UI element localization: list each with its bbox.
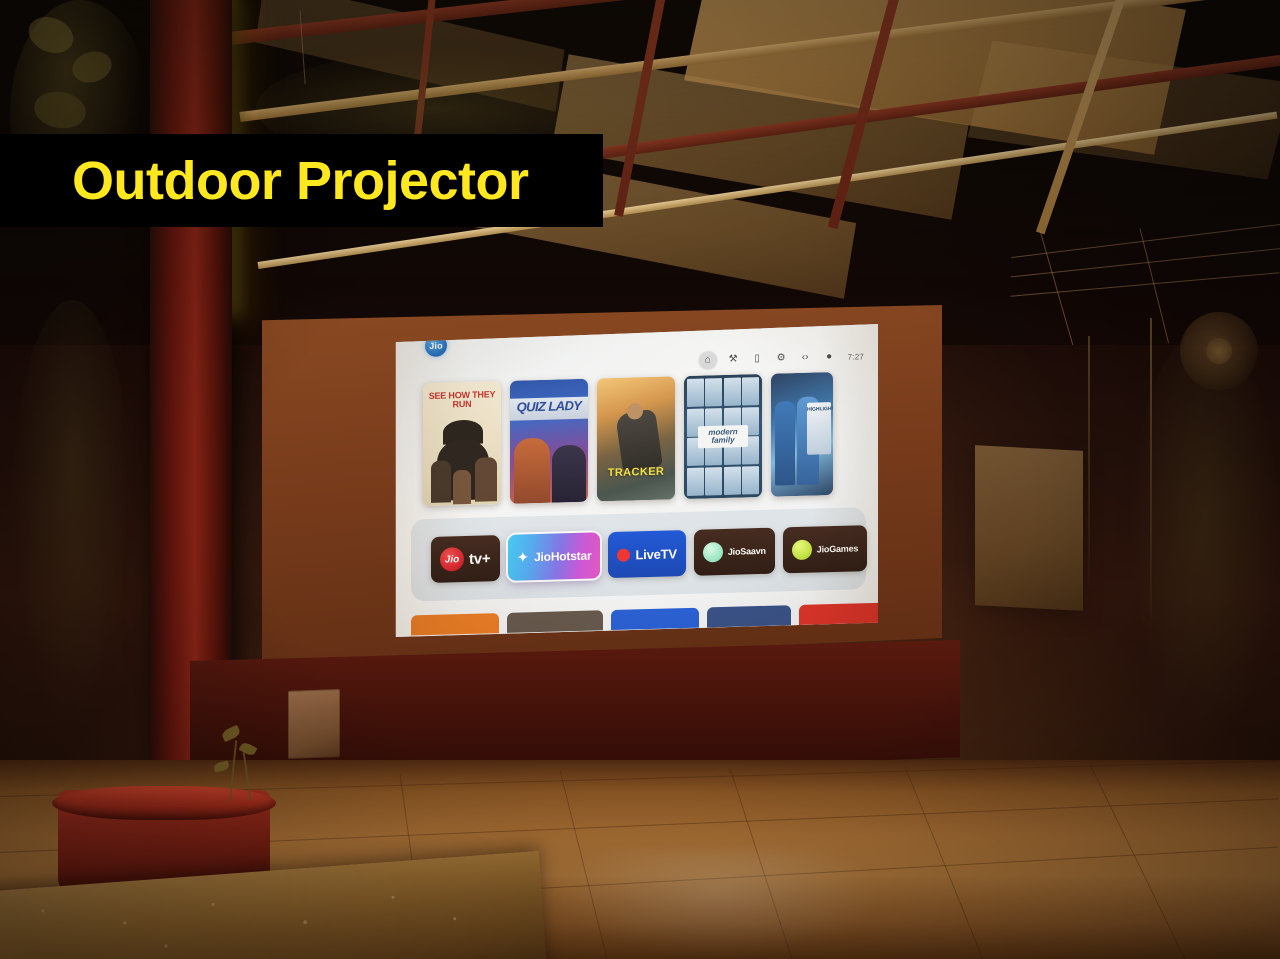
foliage-cluster	[1130, 330, 1280, 750]
counter-speck	[303, 920, 307, 924]
grid-cell	[724, 466, 741, 495]
app-label: JioHotstar	[534, 549, 591, 565]
app-label: LiveTV	[635, 546, 676, 562]
content-card[interactable]: QUIZ LADY	[510, 379, 588, 504]
remote-icon[interactable]: ▯	[750, 351, 765, 366]
app-shelf: Jio tv+ ✦ JioHotstar LiveTV JioSaavn	[411, 507, 866, 601]
jiosaavn-icon	[703, 542, 723, 563]
counter-speck	[391, 896, 394, 899]
projection-inner: Jio ⌂ ⚒ ▯ ⚙ ‹› ● 7:27 SEE HOW THEY	[391, 324, 878, 637]
content-card[interactable]: modern family	[684, 374, 762, 499]
projected-jio-tv-screen[interactable]: Jio ⌂ ⚒ ▯ ⚙ ‹› ● 7:27 SEE HOW THEY	[391, 324, 878, 637]
row-tile[interactable]	[411, 613, 499, 635]
hotstar-star-icon: ✦	[517, 550, 530, 565]
card-silhouette	[453, 470, 471, 504]
grid-cell	[742, 466, 759, 495]
home-icon[interactable]: ⌂	[699, 351, 717, 369]
app-label: JioGames	[817, 543, 858, 554]
counter-speck	[453, 917, 456, 920]
grid-cell	[687, 379, 704, 408]
grid-cell	[724, 378, 741, 407]
code-brackets-icon[interactable]: ‹›	[798, 350, 813, 365]
card-silhouette	[475, 457, 497, 502]
card-title: modern family	[698, 424, 748, 447]
page-title: Outdoor Projector	[0, 154, 529, 208]
photo-scene: Jio ⌂ ⚒ ▯ ⚙ ‹› ● 7:27 SEE HOW THEY	[0, 0, 1280, 959]
profile-icon[interactable]: ●	[822, 349, 837, 364]
tile-grout-line	[1090, 764, 1194, 959]
app-tile-livetv[interactable]: LiveTV	[608, 530, 685, 578]
content-card[interactable]: SEE HOW THEY RUN	[423, 381, 501, 506]
title-banner: Outdoor Projector	[0, 134, 603, 227]
card-title: SEE HOW THEY RUN	[423, 390, 501, 410]
counter-speck	[123, 921, 127, 924]
card-title: QUIZ LADY	[510, 399, 588, 414]
card-scoreboard: HIGHLIGHTS	[807, 402, 831, 455]
grid-cell	[705, 467, 722, 496]
counter-speck	[211, 903, 214, 906]
card-figure	[514, 438, 550, 504]
screen-floor-reflection	[560, 850, 880, 955]
settings-gear-icon[interactable]: ⚙	[774, 351, 789, 366]
row-tile[interactable]	[611, 608, 699, 630]
planter-pot-rim	[52, 786, 276, 820]
grid-cell	[742, 377, 759, 406]
wall-panel	[975, 445, 1083, 611]
app-row: Jio tv+ ✦ JioHotstar LiveTV JioSaavn	[431, 525, 867, 583]
row-tile[interactable]	[799, 602, 878, 624]
jiogames-icon	[792, 540, 812, 561]
card-figure	[552, 445, 586, 503]
jio-badge-icon: Jio	[440, 547, 464, 572]
app-label: tv+	[469, 550, 491, 568]
tools-icon[interactable]: ⚒	[726, 352, 741, 367]
electrical-box	[288, 689, 340, 759]
content-card-row: SEE HOW THEY RUN QUIZ LADY TRACKER	[423, 372, 833, 506]
app-tile-jiohotstar[interactable]: ✦ JioHotstar	[508, 532, 601, 581]
app-tile-jiosaavn[interactable]: JioSaavn	[694, 528, 775, 576]
row-tile[interactable]	[707, 605, 791, 627]
counter-speck	[41, 909, 44, 912]
grid-cell	[687, 467, 704, 496]
card-figure	[775, 401, 795, 486]
counter-speck	[164, 944, 167, 947]
content-card[interactable]: HIGHLIGHTS	[771, 372, 833, 497]
foliage-cluster	[12, 300, 132, 720]
card-silhouette	[431, 460, 451, 503]
app-tile-jiogames[interactable]: JioGames	[783, 525, 867, 573]
card-title: TRACKER	[597, 466, 675, 479]
clock-time: 7:27	[848, 352, 864, 361]
app-label: JioSaavn	[728, 546, 766, 557]
grid-cell	[705, 378, 722, 407]
tv-topbar: ⌂ ⚒ ▯ ⚙ ‹› ● 7:27	[699, 347, 864, 369]
record-dot-icon	[617, 548, 630, 561]
fairy-light-vine	[1150, 318, 1152, 618]
app-tile-jiotv-plus[interactable]: Jio tv+	[431, 535, 500, 583]
row-tile[interactable]	[507, 610, 603, 633]
fairy-light-vine	[1088, 336, 1090, 586]
content-card[interactable]: TRACKER	[597, 376, 675, 501]
